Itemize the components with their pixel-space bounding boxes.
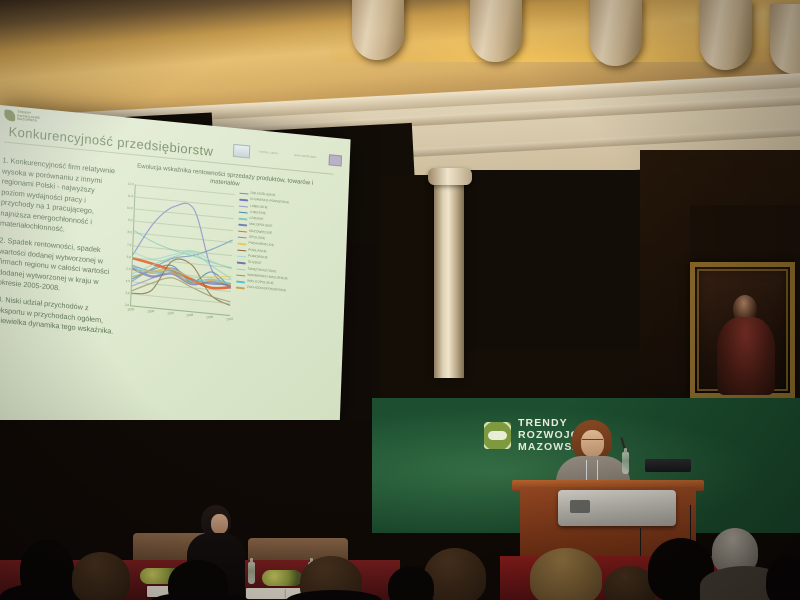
legend-color-swatch — [237, 249, 246, 251]
chart-y-tick-label: 3,0 — [125, 291, 129, 295]
mazowsze-logo-icon — [484, 422, 511, 449]
slide-logo-text: TRENDY ROZWOJOWE MAZOWSZA — [17, 111, 40, 124]
slide-bullet-list: 1. Konkurencyjność firm relatywnie wysok… — [0, 155, 120, 343]
chart-y-tick-label: 11,0 — [127, 194, 133, 199]
bullet-item: 1. Konkurencyjność firm relatywnie wysok… — [0, 155, 120, 241]
legend-color-swatch — [239, 193, 248, 195]
logo-line-3: MAZOWSZA — [17, 118, 40, 124]
slide-title: Konkurencyjność przedsiębiorstw — [8, 124, 213, 159]
legend-color-swatch — [237, 256, 246, 258]
chart-y-tick-label: 9,0 — [128, 218, 132, 222]
legend-label: ZACHODNIOPOMORSKIE — [247, 286, 286, 294]
conference-photo-scene: TRENDY ROZWOJOWE MAZOWSZA Konkurencyjnoś… — [0, 0, 800, 600]
chart-x-tick-label: 2010 — [226, 317, 233, 322]
presenter-face — [581, 430, 604, 457]
hall-column — [434, 178, 464, 378]
legend-color-swatch — [237, 262, 246, 264]
chart-x-tick-label: 2006 — [147, 309, 154, 314]
legend-color-swatch — [238, 218, 247, 220]
glasses-icon — [582, 439, 603, 443]
legend-color-swatch — [238, 230, 247, 232]
portrait-body — [717, 317, 775, 395]
legend-color-swatch — [237, 268, 246, 270]
panelist-face — [211, 514, 228, 534]
chart-y-tick-label: 7,0 — [127, 242, 131, 246]
legend-color-swatch — [239, 205, 248, 207]
ceiling-corbel — [590, 0, 642, 66]
eu-logo-text-2: UNIA EUROPEJSKA — [294, 155, 320, 160]
audience-head — [530, 548, 602, 600]
chart-x-tick-label: 2005 — [127, 307, 134, 312]
column-capital — [428, 168, 472, 185]
unia-europejska-icon — [329, 154, 342, 166]
legend-label: ŁÓDZKIE — [249, 217, 263, 222]
legend-color-swatch — [236, 287, 245, 289]
legend-color-swatch — [239, 212, 248, 214]
chart-x-tick-label: 2009 — [206, 315, 213, 320]
audience-head — [766, 556, 800, 600]
eu-funding-logos: KAPITAŁ LUDZKI UNIA EUROPEJSKA — [233, 144, 342, 168]
legend-color-swatch — [238, 237, 247, 239]
chart-y-tick-label: 8,0 — [127, 230, 131, 234]
legend-color-swatch — [238, 224, 247, 226]
ceiling-corbel — [470, 0, 522, 62]
chart-y-tick-label: 6,0 — [127, 254, 131, 258]
ceiling-corbel — [700, 0, 752, 70]
chart-legend: DOLNOŚLĄSKIEKUJAWSKO-POMORSKIELUBELSKIEL… — [236, 191, 328, 300]
ceiling-corbel — [770, 4, 800, 74]
bullet-item: 2. Spadek rentowności, spadek wartości d… — [0, 235, 117, 299]
legend-color-swatch — [236, 281, 245, 283]
slide-logo: TRENDY ROZWOJOWE MAZOWSZA — [4, 109, 40, 123]
chart-area: 12,011,010,09,08,07,06,05,04,03,02,02005… — [112, 179, 237, 331]
mazowsze-logo-icon — [4, 109, 15, 121]
flower-arrangement — [262, 570, 302, 586]
kapital-ludzki-icon — [233, 144, 250, 159]
eu-logo-text-1: KAPITAŁ LUDZKI — [259, 151, 285, 156]
chart-x-tick-label: 2008 — [186, 313, 193, 318]
projector-device — [558, 490, 676, 526]
chart-y-tick-label: 5,0 — [126, 266, 130, 270]
chart-y-tick-label: 4,0 — [126, 279, 130, 283]
chart-x-tick-label: 2007 — [167, 311, 174, 316]
legend-color-swatch — [237, 243, 246, 245]
water-bottle — [248, 562, 255, 584]
laptop-device — [645, 459, 691, 472]
legend-color-swatch — [236, 274, 245, 276]
audience-head — [72, 552, 130, 600]
water-bottle — [622, 452, 629, 474]
legend-color-swatch — [239, 199, 248, 201]
chart-y-tick-label: 12,0 — [128, 182, 134, 187]
chart-plot-region: 12,011,010,09,08,07,06,05,04,03,02,02005… — [130, 184, 234, 316]
bullet-item: 3. Niski udział przychodów z eksportu w … — [0, 294, 115, 337]
legend-label: ŚLĄSKIE — [248, 261, 262, 266]
audience-head — [388, 566, 434, 600]
chart-y-tick-label: 10,0 — [127, 206, 133, 211]
ceiling-corbel — [352, 0, 404, 60]
projector-lens-icon — [570, 500, 590, 513]
portrait-painting — [690, 262, 795, 398]
